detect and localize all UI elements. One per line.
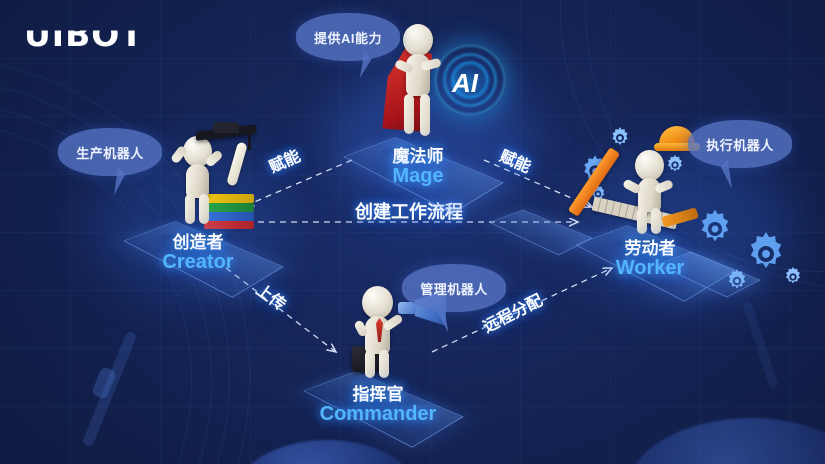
gear-icon [694, 208, 736, 255]
bubble-creator: 生产机器人 [58, 128, 162, 176]
creator-shadow [160, 230, 236, 246]
bubble-mage: 提供AI能力 [296, 13, 400, 61]
ai-badge: AI [452, 68, 478, 99]
bubble-creator-text: 生产机器人 [76, 143, 144, 162]
commander-shadow [340, 382, 416, 398]
mage-shadow [380, 144, 456, 160]
graduation-cap-icon [196, 122, 256, 142]
commander-head [362, 286, 393, 319]
bubble-worker-text: 执行机器人 [706, 135, 774, 154]
gear-icon [782, 266, 804, 293]
node-platform-worker-aux2 [489, 210, 592, 256]
bubble-commander-text: 管理机器人 [420, 279, 488, 298]
worker-shadow [612, 236, 688, 252]
slide-canvas: UIBOT 赋能 赋能 创建工作流程 上传 远程分配 AI [0, 0, 825, 464]
bubble-mage-text: 提供AI能力 [314, 28, 382, 47]
bubble-worker: 执行机器人 [688, 120, 792, 168]
bubble-commander: 管理机器人 [402, 264, 506, 312]
mage-head [403, 24, 433, 56]
worker-head [635, 150, 664, 181]
gear-icon [724, 268, 750, 299]
creator-body [186, 164, 209, 198]
